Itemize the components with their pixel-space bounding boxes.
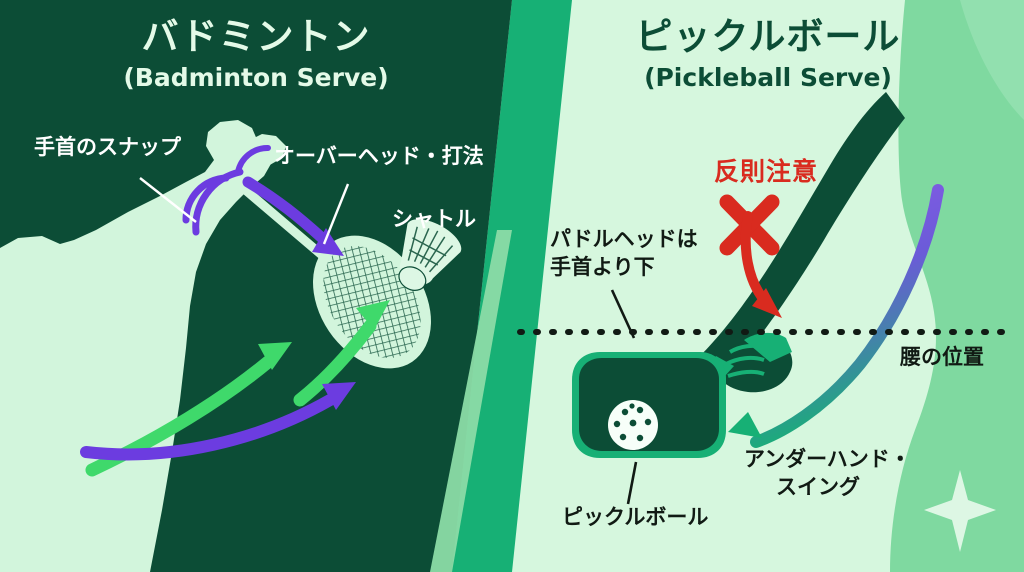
label-paddle-head-line1: パドルヘッドは xyxy=(550,228,698,252)
label-underhand-line1: アンダーハンド・ xyxy=(744,448,911,472)
label-overhead-stroke: オーバーヘッド・打法 xyxy=(274,145,484,169)
label-pickleball: ピックルボール xyxy=(562,506,708,530)
pickleball-paddle xyxy=(572,352,734,458)
right-panel-title-en: (Pickleball Serve) xyxy=(512,64,1024,92)
underhand-swing-arrowhead xyxy=(728,412,762,438)
leader-line-pickleball xyxy=(628,462,636,504)
left-panel-title-jp: バドミントン xyxy=(0,16,512,57)
label-paddle-head-line2: 手首より下 xyxy=(550,256,655,280)
underhand-swing-arc xyxy=(756,190,938,442)
right-panel-title-jp: ピックルボール xyxy=(512,16,1024,57)
infographic-canvas: バドミントン (Badminton Serve) ピックルボール (Pickle… xyxy=(0,0,1024,572)
label-foul-warning: 反則注意 xyxy=(714,158,818,186)
label-underhand-line2: スイング xyxy=(776,476,860,500)
label-shuttlecock: シャトル xyxy=(392,208,476,232)
label-waist-position: 腰の位置 xyxy=(900,346,984,370)
left-panel-title-en: (Badminton Serve) xyxy=(0,64,512,92)
label-wrist-snap: 手首のスナップ xyxy=(34,136,181,160)
